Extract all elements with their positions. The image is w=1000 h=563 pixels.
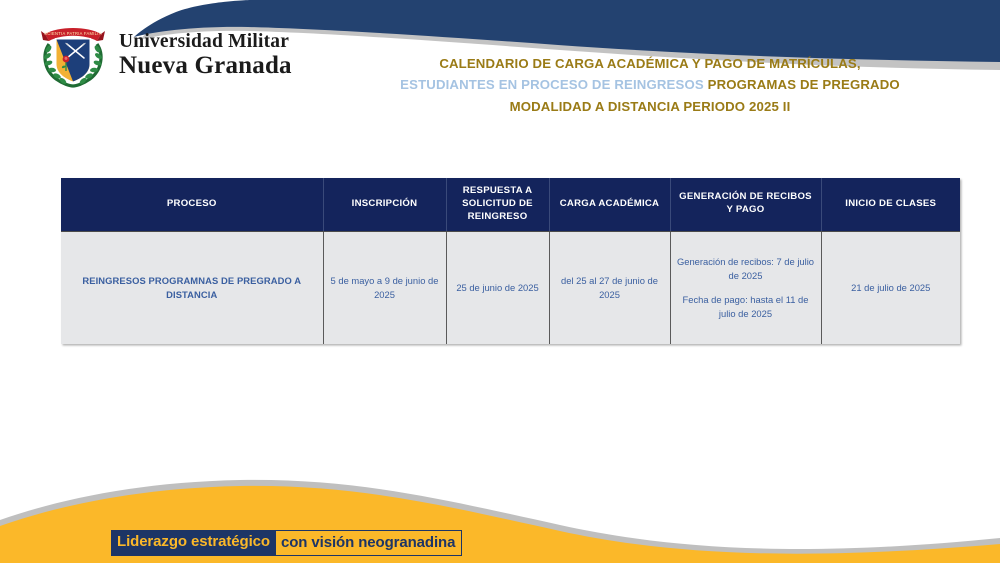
cell-generacion-recibos-part2: Fecha de pago: hasta el 11 de julio de 2…: [683, 294, 809, 319]
university-wordmark: Universidad Militar Nueva Granada: [119, 32, 292, 79]
title-line-2: ESTUDIANTES EN PROCESO DE REINGRESOS PRO…: [330, 74, 970, 95]
cell-proceso: REINGRESOS PROGRAMNAS DE PREGRADO A DIST…: [61, 231, 323, 344]
table-row: REINGRESOS PROGRAMNAS DE PREGRADO A DIST…: [61, 231, 960, 344]
title-line-1: CALENDARIO DE CARGA ACADÉMICA Y PAGO DE …: [330, 53, 970, 74]
slide-canvas: SCIENTIA PATRIA FAMILIA Universidad Mili…: [0, 0, 1000, 563]
column-header-generacion-recibos: GENERACIÓN DE RECIBOS Y PAGO: [670, 178, 821, 231]
column-header-inicio-clases: INICIO DE CLASES: [821, 178, 960, 231]
wordmark-line-1: Universidad Militar: [119, 32, 292, 52]
university-logo: SCIENTIA PATRIA FAMILIA Universidad Mili…: [36, 22, 292, 88]
column-header-carga-academica: CARGA ACADÉMICA: [549, 178, 670, 231]
column-header-inscripcion: INSCRIPCIÓN: [323, 178, 446, 231]
footer-tagline: Liderazgo estratégico con visión neogran…: [111, 530, 462, 556]
column-header-proceso: PROCESO: [61, 178, 323, 231]
svg-text:SCIENTIA PATRIA FAMILIA: SCIENTIA PATRIA FAMILIA: [44, 31, 101, 36]
cell-carga-academica: del 25 al 27 de junio de 2025: [549, 231, 670, 344]
tagline-strong: Liderazgo estratégico: [111, 530, 276, 556]
column-header-respuesta-solicitud: RESPUESTA A SOLICITUD DE REINGRESO: [446, 178, 549, 231]
title-line-3: MODALIDAD A DISTANCIA PERIODO 2025 II: [330, 96, 970, 117]
cell-inicio-clases: 21 de julio de 2025: [821, 231, 960, 344]
cell-inscripcion: 5 de mayo a 9 de junio de 2025: [323, 231, 446, 344]
cell-spacer: [677, 282, 815, 293]
cell-respuesta-solicitud: 25 de junio de 2025: [446, 231, 549, 344]
page-title: CALENDARIO DE CARGA ACADÉMICA Y PAGO DE …: [330, 53, 970, 117]
wordmark-line-2: Nueva Granada: [119, 53, 292, 78]
tagline-rest: con visión neogranadina: [276, 530, 462, 556]
cell-generacion-recibos: Generación de recibos: 7 de julio de 202…: [670, 231, 821, 344]
university-crest-icon: SCIENTIA PATRIA FAMILIA: [36, 22, 110, 88]
calendar-table: PROCESO INSCRIPCIÓN RESPUESTA A SOLICITU…: [61, 178, 960, 344]
title-line-2-rest: PROGRAMAS DE PREGRADO: [704, 77, 900, 92]
title-line-2-highlight: ESTUDIANTES EN PROCESO DE REINGRESOS: [400, 77, 704, 92]
table-header-row: PROCESO INSCRIPCIÓN RESPUESTA A SOLICITU…: [61, 178, 960, 231]
cell-generacion-recibos-part1: Generación de recibos: 7 de julio de 202…: [677, 256, 814, 281]
